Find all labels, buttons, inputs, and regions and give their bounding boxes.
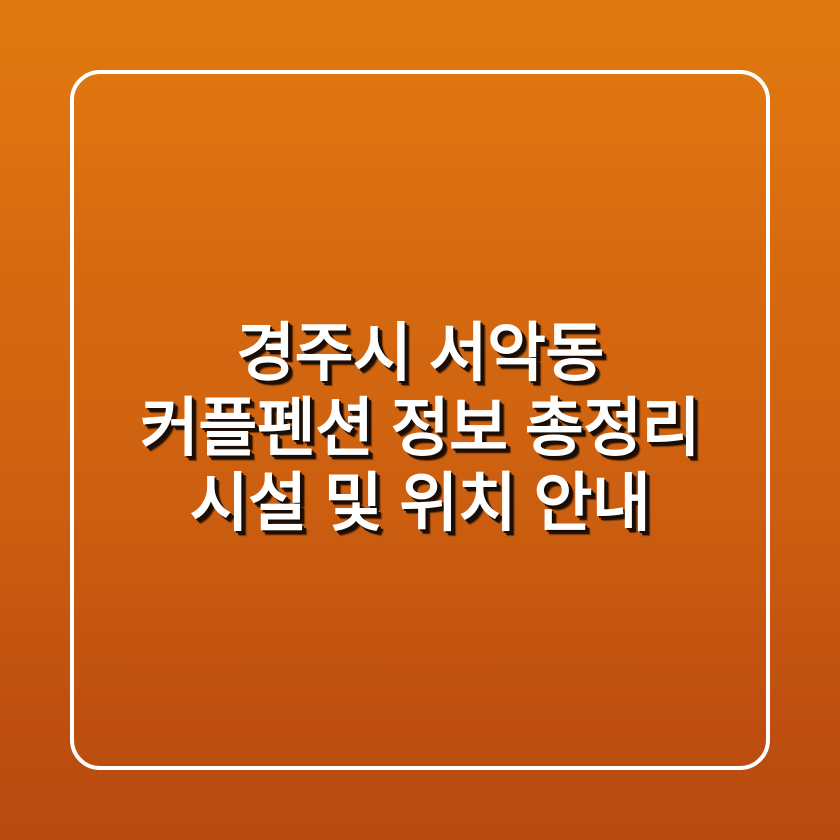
headline-line-1: 경주시 서악동 [95,316,745,391]
headline-line-3: 시설 및 위치 안내 [95,466,745,541]
headline-line-2: 커플펜션 정보 총정리 [95,391,745,466]
thumbnail-card: 경주시 서악동 커플펜션 정보 총정리 시설 및 위치 안내 [0,0,840,840]
headline-block: 경주시 서악동 커플펜션 정보 총정리 시설 및 위치 안내 [0,8,840,840]
